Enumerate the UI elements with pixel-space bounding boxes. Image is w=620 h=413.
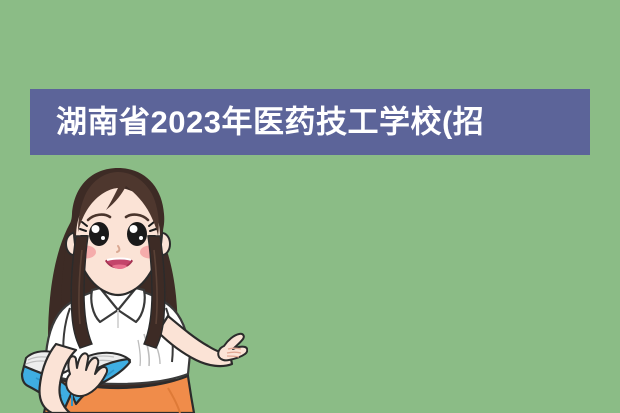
page-title: 湖南省2023年医药技工学校(招	[56, 107, 484, 138]
poster-canvas: 湖南省2023年医药技工学校(招	[0, 0, 620, 413]
title-banner: 湖南省2023年医药技工学校(招	[30, 89, 590, 155]
illustration-student-girl	[18, 158, 248, 413]
open-hand	[218, 334, 247, 361]
